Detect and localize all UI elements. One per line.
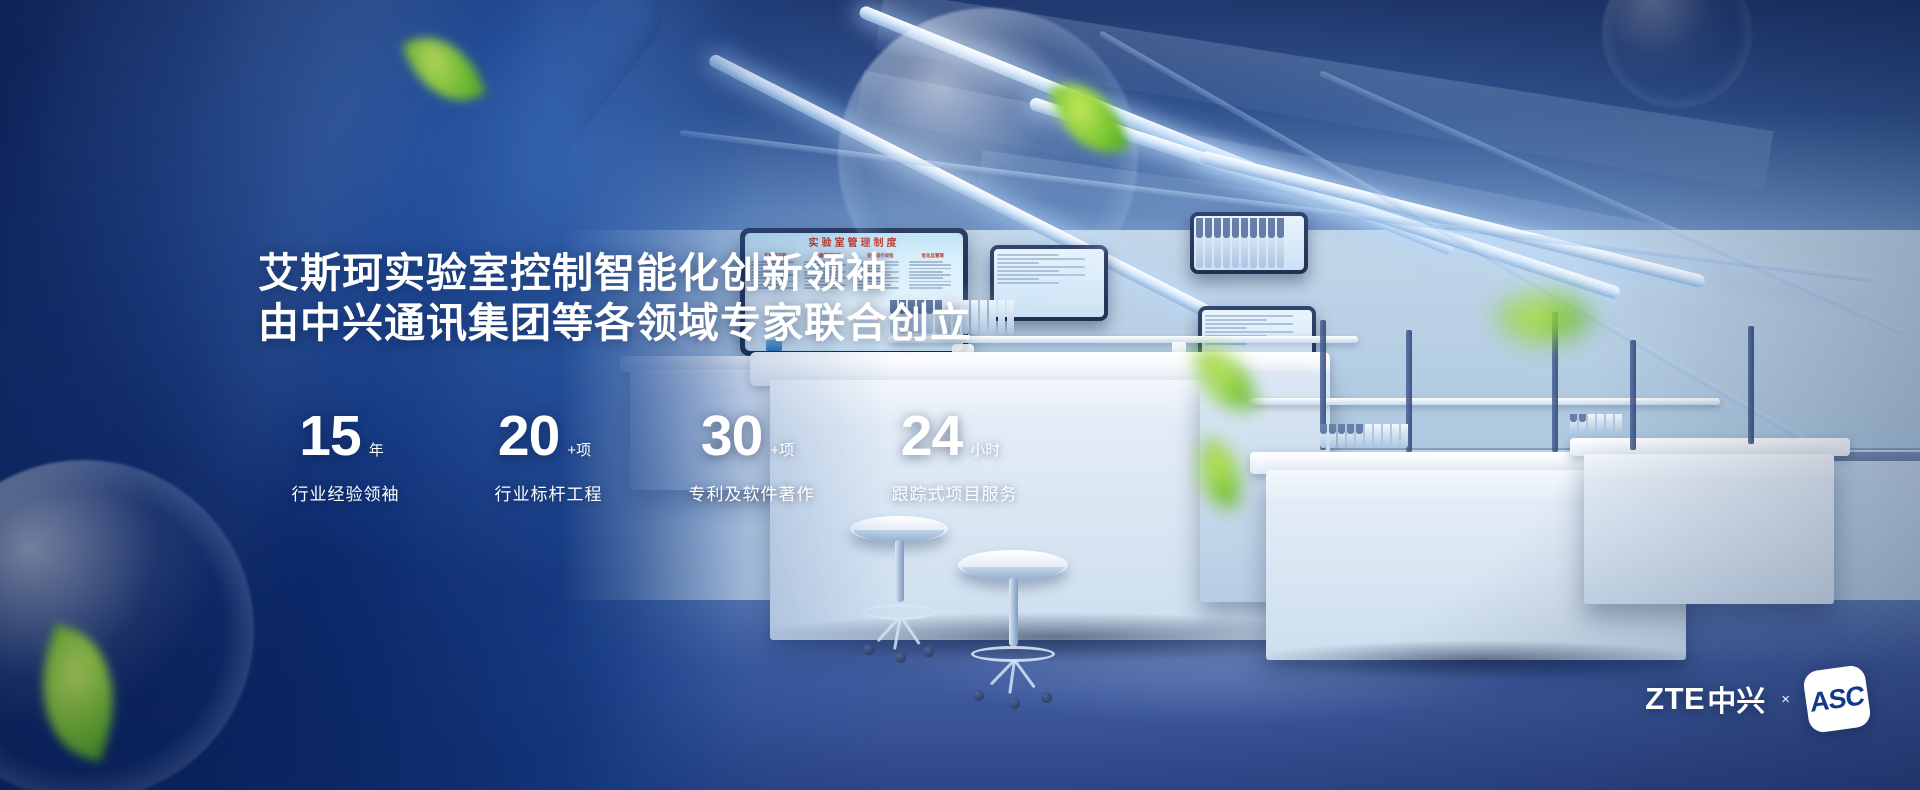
logo-separator-icon: × [1781,691,1790,708]
page-title: 艾斯珂实验室控制智能化创新领袖 由中兴通讯集团等各领域专家联合创立 [258,248,972,348]
stat-unit: 年 [369,443,384,458]
stat-unit: 小时 [970,443,1000,458]
headline-line-1: 艾斯珂实验室控制智能化创新领袖 [258,250,888,296]
stat-item-service: 24 小时 跟踪式项目服务 [862,408,1065,505]
stat-label: 行业经验领袖 [253,480,456,505]
stat-item-projects: 20 +项 行业标杆工程 [456,408,659,505]
zte-logo: ZTE 中兴 [1645,678,1765,720]
zte-logo-chinese: 中兴 [1707,678,1765,720]
stat-number: 20 [498,408,559,465]
stat-number: 24 [901,408,962,465]
asc-logo-text: ASC [1810,680,1864,719]
stat-unit: +项 [770,443,794,458]
stat-label: 专利及软件著作 [659,480,862,505]
stat-number: 30 [701,408,762,465]
stat-item-patents: 30 +项 专利及软件著作 [659,408,862,505]
zte-logo-latin: ZTE [1645,681,1705,717]
stat-item-experience: 15 年 行业经验领袖 [253,408,456,505]
banner-root: 实验室管理制度 实验室守则 仪器管理制度 [0,0,1920,790]
asc-logo: ASC [1802,664,1872,734]
banner-content: 艾斯珂实验室控制智能化创新领袖 由中兴通讯集团等各领域专家联合创立 15 年 行… [0,0,1920,790]
headline-line-2: 由中兴通讯集团等各领域专家联合创立 [258,298,972,348]
logo-lockup: ZTE 中兴 × ASC [1645,668,1868,730]
stat-label: 行业标杆工程 [456,480,659,505]
stat-number: 15 [299,408,360,465]
stat-unit: +项 [567,443,591,458]
stat-label: 跟踪式项目服务 [862,480,1065,505]
stats-row: 15 年 行业经验领袖 20 +项 行业标杆工程 30 +项 专利及软件著作 [253,408,1065,505]
